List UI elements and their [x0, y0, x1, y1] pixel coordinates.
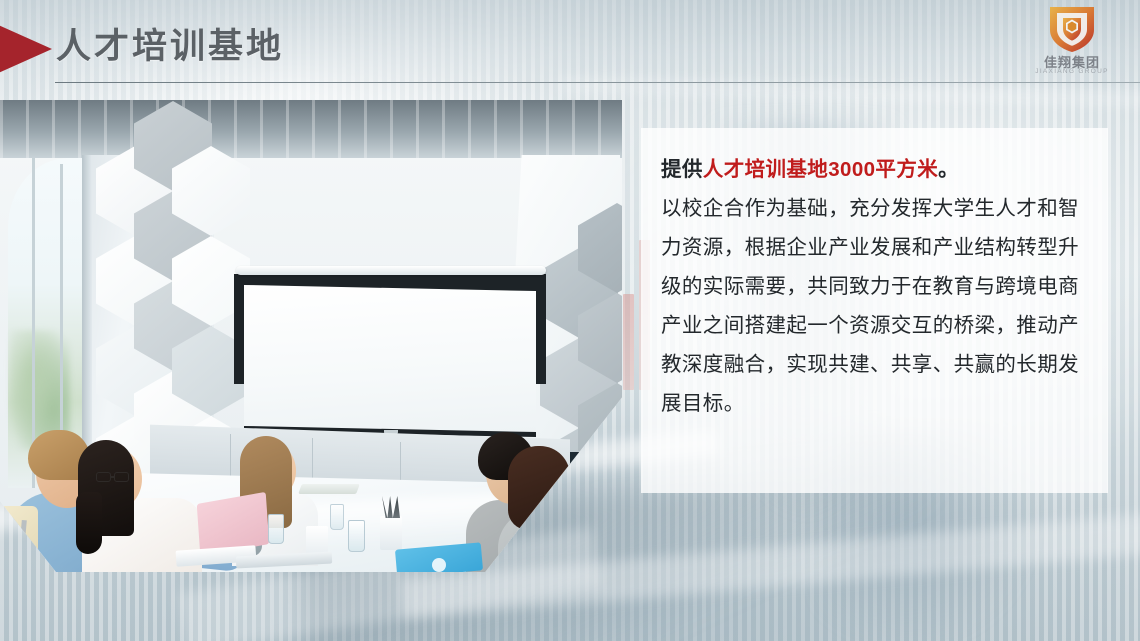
page-title: 人才培训基地 — [56, 29, 284, 64]
title-divider — [55, 82, 1140, 83]
logo-name-en: JIAXIANG GROUP — [1026, 68, 1118, 75]
photo-content — [0, 100, 622, 572]
description-body: 以校企合作为基础，充分发挥大学生人才和智力资源，根据企业产业发展和产业结构转型升… — [661, 197, 1079, 415]
red-arrow-icon — [0, 23, 52, 75]
photo-vignette — [0, 100, 622, 572]
slide-canvas: 678 004 人才培训基地 佳翔集团 JIAXIANG GROUP — [0, 0, 1140, 641]
description-lead-prefix: 提供 — [661, 158, 703, 181]
conference-room-photo — [0, 100, 622, 572]
shield-icon — [1044, 4, 1100, 54]
description-text: 提供人才培训基地3000平方米。 以校企合作为基础，充分发挥大学生人才和智力资源… — [661, 150, 1084, 423]
description-highlight: 人才培训基地3000平方米 — [703, 158, 938, 181]
description-lead-suffix: 。 — [938, 158, 959, 181]
company-logo: 佳翔集团 JIAXIANG GROUP — [1026, 4, 1118, 82]
description-panel: 提供人才培训基地3000平方米。 以校企合作为基础，充分发挥大学生人才和智力资源… — [641, 128, 1108, 493]
slide-header: 人才培训基地 — [0, 0, 1140, 98]
